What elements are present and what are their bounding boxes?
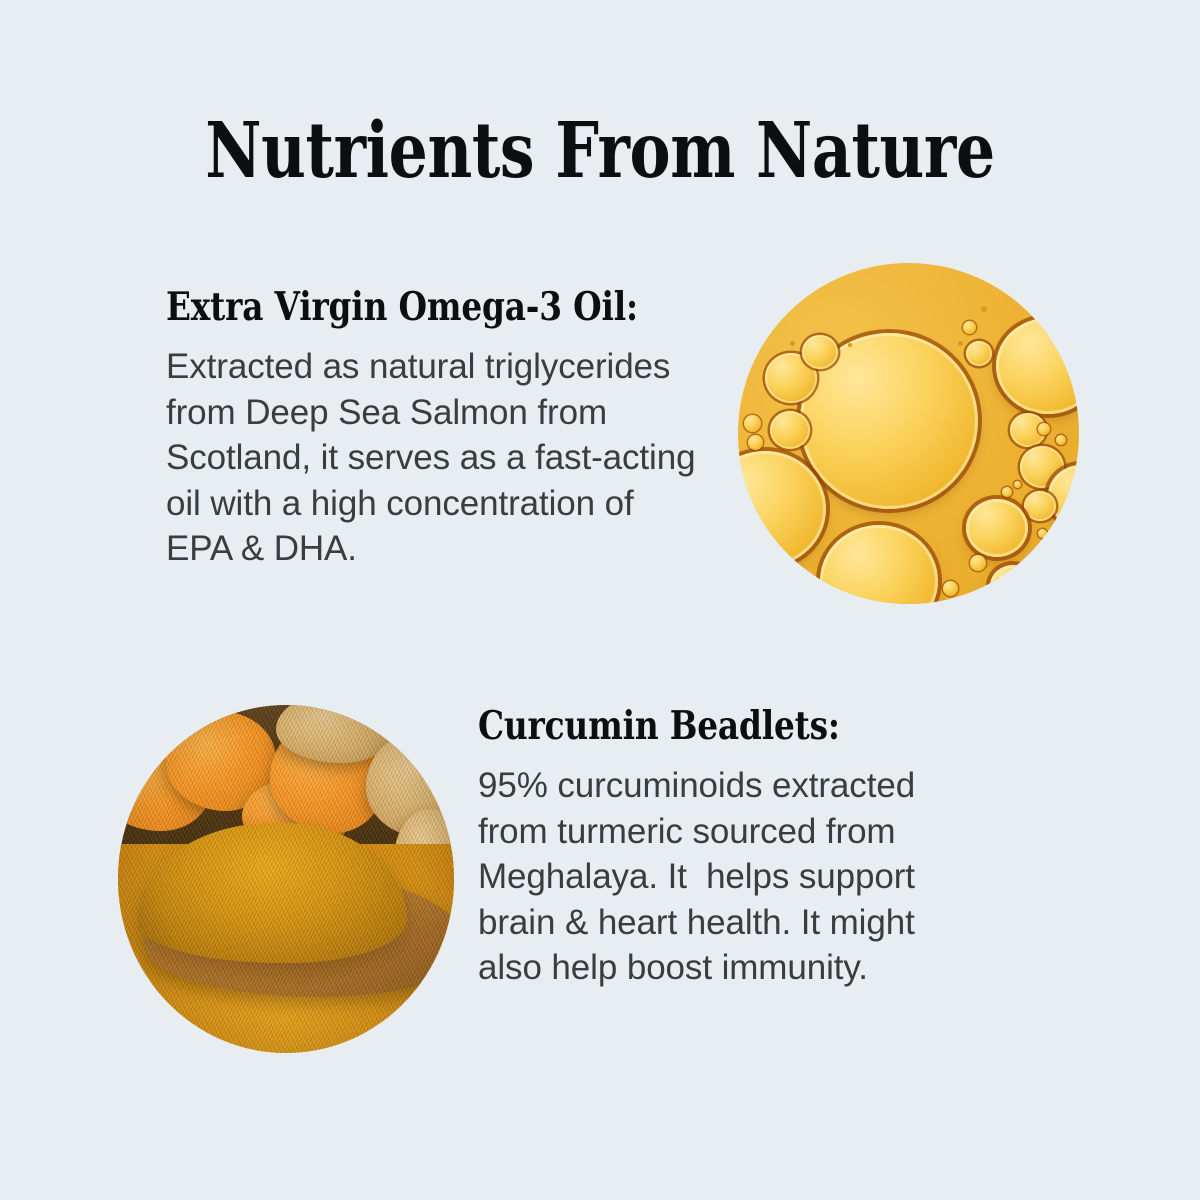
oil-bubble xyxy=(820,525,938,604)
oil-speck xyxy=(848,343,852,347)
body-line: brain & heart health. It might xyxy=(478,900,1038,946)
oil-bubble xyxy=(1038,529,1047,538)
oil-speck xyxy=(958,341,963,346)
section-curcumin: Curcumin Beadlets: 95% curcuminoids extr… xyxy=(478,703,1038,991)
oil-bubble xyxy=(738,451,826,567)
oil-speck xyxy=(1014,481,1021,488)
oil-bubble xyxy=(802,335,838,369)
body-line: 95% curcuminoids extracted xyxy=(478,763,1038,809)
oil-bubble xyxy=(1024,491,1056,521)
body-line: Scotland, it serves as a fast-acting xyxy=(166,435,766,481)
body-line: from turmeric sourced from xyxy=(478,809,1038,855)
body-line: oil with a high concentration of xyxy=(166,481,766,527)
oil-bubble xyxy=(1002,487,1012,497)
infographic-page: Nutrients From Nature Extra Virgin Omega… xyxy=(0,0,1200,1200)
section-omega-3-body: Extracted as natural triglycerides from … xyxy=(166,344,766,572)
oil-bubble xyxy=(970,555,986,571)
oil-bubble xyxy=(943,581,958,596)
body-line: also help boost immunity. xyxy=(478,945,1038,991)
oil-bubble xyxy=(1056,435,1066,445)
oil-bubble xyxy=(990,565,1036,604)
body-line: EPA & DHA. xyxy=(166,526,766,572)
oil-bubble xyxy=(966,499,1028,557)
oil-bubble xyxy=(996,318,1079,414)
page-title: Nutrients From Nature xyxy=(120,106,1080,196)
oil-bubble xyxy=(770,411,810,449)
oil-bubble xyxy=(1038,423,1050,435)
body-line: Meghalaya. It helps support xyxy=(478,854,1038,900)
section-omega-3-heading: Extra Virgin Omega-3 Oil: xyxy=(166,284,670,330)
oil-bubble xyxy=(744,415,761,432)
turmeric-powder-photo xyxy=(118,705,454,1053)
photo-vignette xyxy=(118,705,454,1053)
body-line: from Deep Sea Salmon from xyxy=(166,390,766,436)
omega-oil-droplets-photo xyxy=(738,263,1079,604)
oil-bubble xyxy=(748,435,763,450)
oil-speck xyxy=(790,341,795,346)
oil-bubble xyxy=(963,321,976,334)
section-omega-3: Extra Virgin Omega-3 Oil: Extracted as n… xyxy=(166,284,766,572)
section-curcumin-heading: Curcumin Beadlets: xyxy=(478,703,948,749)
oil-speck xyxy=(981,306,987,312)
oil-bubble xyxy=(966,341,992,366)
section-curcumin-body: 95% curcuminoids extracted from turmeric… xyxy=(478,763,1038,991)
body-line: Extracted as natural triglycerides xyxy=(166,344,766,390)
